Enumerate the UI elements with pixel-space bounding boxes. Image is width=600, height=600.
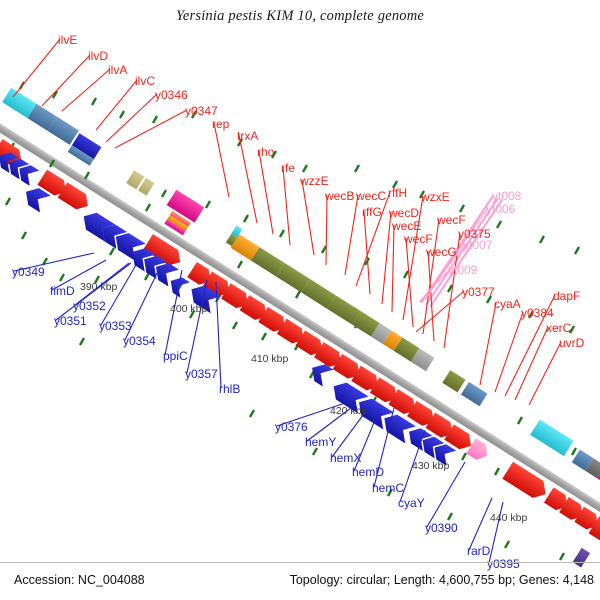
- accession-text: Accession: NC_004088: [14, 573, 145, 587]
- gene-label-xerC[interactable]: xerC: [546, 322, 571, 334]
- leader-line: [495, 312, 523, 392]
- gene-label-yt006[interactable]: yt006: [486, 203, 515, 215]
- leader-line: [214, 123, 229, 197]
- gene-label-y0354[interactable]: y0354: [123, 335, 156, 347]
- gene-label-uvrD[interactable]: uvrD: [559, 337, 584, 349]
- gene-label-rep[interactable]: rep: [212, 118, 229, 130]
- leader-line: [345, 195, 358, 275]
- gene-label-wzxE[interactable]: wzxE: [421, 191, 450, 203]
- leader-line: [283, 167, 290, 245]
- gene-label-ilvC[interactable]: ilvC: [135, 75, 155, 87]
- gene-label-wecF[interactable]: wecF: [404, 233, 433, 245]
- leader-line: [62, 69, 110, 111]
- gene-label-rffH[interactable]: rffH: [388, 187, 407, 199]
- gene-label-ilvD[interactable]: ilvD: [88, 50, 108, 62]
- leader-line: [101, 265, 136, 325]
- gene-label-wzzE[interactable]: wzzE: [300, 175, 329, 187]
- leader-line: [480, 303, 496, 385]
- leader-line: [42, 55, 90, 106]
- gene-label-wecB[interactable]: wecB: [325, 190, 354, 202]
- gene-label-cyaA[interactable]: cyaA: [494, 298, 521, 310]
- scale-tick-label: 390 kbp: [80, 281, 117, 293]
- leader-line: [364, 211, 370, 294]
- leader-line: [259, 151, 273, 234]
- gene-label-wecE[interactable]: wecE: [392, 220, 421, 232]
- scale-tick-label: 440 kbp: [490, 512, 527, 524]
- gene-label-y0376[interactable]: y0376: [275, 421, 308, 433]
- gene-label-y0349[interactable]: y0349: [12, 266, 45, 278]
- leader-line: [302, 180, 314, 255]
- leader-line: [392, 225, 394, 312]
- gene-block[interactable]: [126, 170, 154, 196]
- gene-label-y0351[interactable]: y0351: [54, 315, 87, 327]
- leader-line: [469, 498, 492, 550]
- gene-label-y0347[interactable]: y0347: [185, 105, 218, 117]
- leader-line: [529, 342, 561, 405]
- gene-label-trxA[interactable]: trxA: [237, 130, 258, 142]
- gene-label-y0357[interactable]: y0357: [185, 368, 218, 380]
- gene-label-ilvE[interactable]: ilvE: [58, 34, 77, 46]
- gene-block[interactable]: [530, 420, 573, 457]
- gene-label-y0352[interactable]: y0352: [73, 300, 106, 312]
- gene-label-dapF[interactable]: dapF: [553, 290, 580, 302]
- leader-line: [96, 80, 137, 130]
- leader-line: [106, 94, 157, 142]
- gene-label-cyaY[interactable]: cyaY: [398, 497, 425, 509]
- gene-label-wecG[interactable]: wecG: [426, 246, 457, 258]
- gene-label-hemC[interactable]: hemC: [372, 482, 404, 494]
- gene-label-ppiC[interactable]: ppiC: [163, 350, 188, 362]
- scale-tick-label: 420 kbp: [330, 405, 367, 417]
- gene-label-wecC[interactable]: wecC: [356, 190, 386, 202]
- status-bar: Accession: NC_004088 Topology: circular;…: [0, 570, 600, 596]
- leader-line: [13, 39, 60, 97]
- gene-label-rho[interactable]: rho: [257, 146, 274, 158]
- gene-label-y0395[interactable]: y0395: [487, 558, 520, 570]
- scale-tick-label: 410 kbp: [251, 353, 288, 365]
- gene-label-hemD[interactable]: hemD: [352, 466, 384, 478]
- gene-label-yt009[interactable]: yt009: [448, 264, 477, 276]
- leader-line: [382, 212, 391, 304]
- gene-label-ilvA[interactable]: ilvA: [108, 64, 127, 76]
- leader-line: [515, 327, 548, 400]
- gene-label-hemX[interactable]: hemX: [330, 452, 361, 464]
- genome-map-viewer: Yersinia pestis KIM 10, complete genome: [0, 0, 600, 600]
- gene-label-rarD[interactable]: rarD: [467, 545, 490, 557]
- gene-label-rffG[interactable]: rffG: [362, 206, 382, 218]
- gene-label-yt007[interactable]: yt007: [463, 239, 492, 251]
- gene-label-yt008[interactable]: yt008: [492, 190, 521, 202]
- gene-label-y0384[interactable]: y0384: [521, 307, 554, 319]
- gene-block[interactable]: [442, 370, 487, 406]
- gene-label-fimD[interactable]: fimD: [50, 285, 75, 297]
- gene-label-y0346[interactable]: y0346: [155, 89, 188, 101]
- scale-tick-label: 400 kbp: [170, 303, 207, 315]
- footer-divider: [0, 562, 600, 563]
- topology-text: Topology: circular; Length: 4,600,755 bp…: [290, 573, 594, 587]
- gene-label-y0390[interactable]: y0390: [425, 522, 458, 534]
- gene-label-hemY[interactable]: hemY: [305, 436, 336, 448]
- gene-label-rhlB[interactable]: rhlB: [219, 383, 240, 395]
- scale-tick-label: 430 kbp: [412, 460, 449, 472]
- leader-line: [326, 195, 327, 265]
- gene-label-wecD[interactable]: wecD: [389, 207, 419, 219]
- leader-line: [406, 238, 413, 327]
- gene-label-y0377[interactable]: y0377: [462, 286, 495, 298]
- gene-label-wecF[interactable]: wecF: [437, 214, 466, 226]
- leader-line: [115, 110, 187, 148]
- gene-label-y0353[interactable]: y0353: [99, 320, 132, 332]
- gene-label-rfe[interactable]: rfe: [281, 162, 295, 174]
- leader-line: [239, 135, 257, 223]
